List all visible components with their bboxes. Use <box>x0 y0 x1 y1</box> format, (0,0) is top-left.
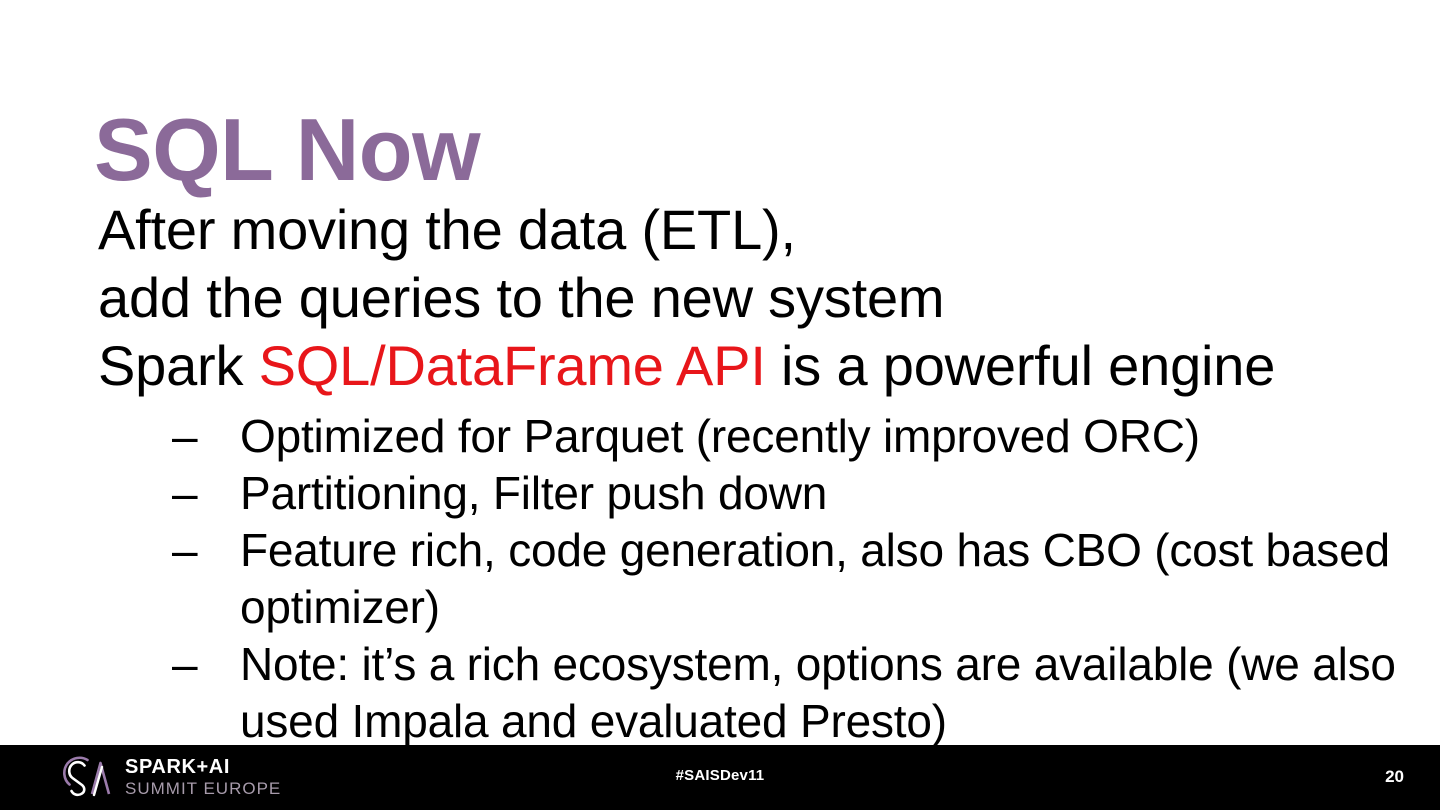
list-item-label: Feature rich, code generation, also has … <box>240 524 1390 633</box>
list-item-label: Partitioning, Filter push down <box>240 467 827 519</box>
body-line-3-suffix: is a powerful engine <box>766 334 1275 397</box>
list-item: – Feature rich, code generation, also ha… <box>98 522 1418 636</box>
bullet-dash-icon: – <box>172 408 197 465</box>
presentation-slide: SQL Now After moving the data (ETL), add… <box>0 0 1440 810</box>
body-line-2: add the queries to the new system <box>98 264 1418 332</box>
list-item: – Partitioning, Filter push down <box>98 465 1418 522</box>
page-title: SQL Now <box>94 106 480 194</box>
list-item: – Note: it’s a rich ecosystem, options a… <box>98 636 1418 750</box>
list-item-label: Optimized for Parquet (recently improved… <box>240 410 1200 462</box>
slide-body: After moving the data (ETL), add the que… <box>98 196 1418 750</box>
event-hashtag: #SAISDev11 <box>0 767 1440 784</box>
sub-bullet-list: – Optimized for Parquet (recently improv… <box>98 408 1418 750</box>
slide-footer: SPARK+AI SUMMIT EUROPE #SAISDev11 20 <box>0 745 1440 810</box>
bullet-dash-icon: – <box>172 465 197 522</box>
list-item-label: Note: it’s a rich ecosystem, options are… <box>240 638 1396 747</box>
body-line-3-prefix: Spark <box>98 334 259 397</box>
slide-number: 20 <box>1385 767 1404 787</box>
body-line-1: After moving the data (ETL), <box>98 196 1418 264</box>
bullet-dash-icon: – <box>172 522 197 579</box>
bullet-dash-icon: – <box>172 636 197 693</box>
body-line-3-highlight: SQL/DataFrame API <box>259 334 766 397</box>
body-line-3: Spark SQL/DataFrame API is a powerful en… <box>98 332 1418 400</box>
list-item: – Optimized for Parquet (recently improv… <box>98 408 1418 465</box>
